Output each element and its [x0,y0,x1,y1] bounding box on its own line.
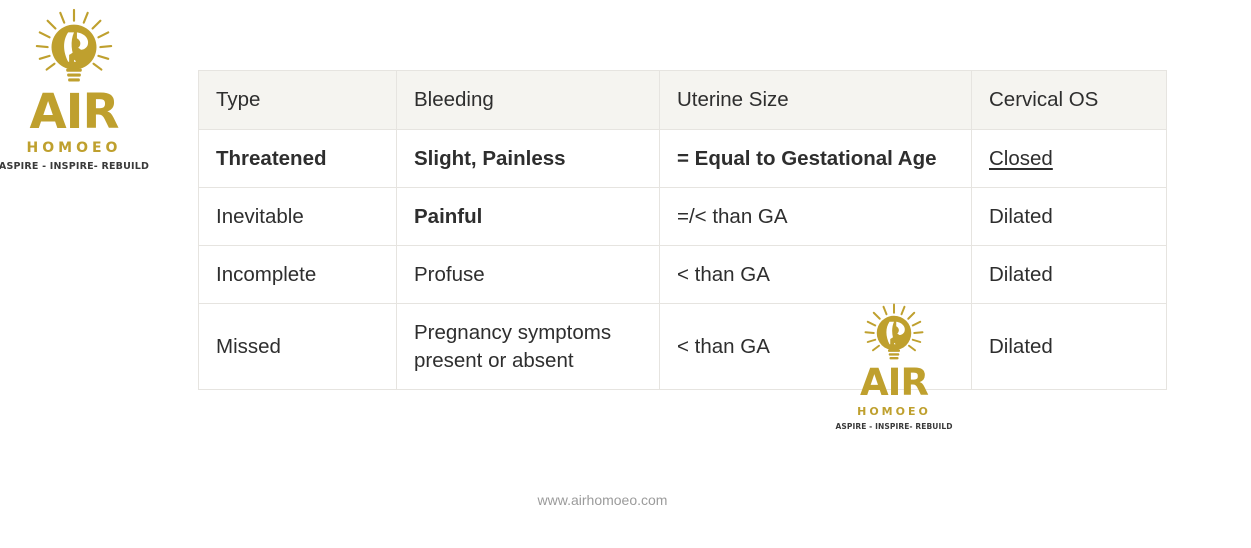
table-header-row: Type Bleeding Uterine Size Cervical OS [199,71,1167,130]
cell-type: Incomplete [199,246,397,304]
cell-cervical-os-text: Closed [989,147,1053,170]
watermark-tagline: ASPIRE - INSPIRE- REBUILD [835,423,952,431]
brand-tagline: ASPIRE - INSPIRE- REBUILD [0,162,149,172]
lightbulb-icon [25,8,123,94]
lightbulb-icon [856,303,932,369]
cell-cervical-os: Dilated [972,246,1167,304]
watermark-subname: HOMOEO [857,406,931,417]
cell-cervical-os: Dilated [972,304,1167,390]
cell-type: Missed [199,304,397,390]
footer-website-url: www.airhomoeo.com [0,492,1205,508]
watermark-logo: AIR HOMOEO ASPIRE - INSPIRE- REBUILD [836,303,952,431]
cell-bleeding: Slight, Painless [397,130,660,188]
table-row: Threatened Slight, Painless = Equal to G… [199,130,1167,188]
cell-uterine-size: = Equal to Gestational Age [660,130,972,188]
comparison-table: Type Bleeding Uterine Size Cervical OS T… [198,70,1167,390]
cell-cervical-os: Closed [972,130,1167,188]
column-header-cervical-os: Cervical OS [972,71,1167,130]
brand-wordmark: AIR [30,88,119,136]
table-row: Incomplete Profuse < than GA Dilated [199,246,1167,304]
column-header-uterine-size: Uterine Size [660,71,972,130]
cell-type: Inevitable [199,188,397,246]
cell-bleeding: Profuse [397,246,660,304]
brand-subname: HOMOEO [27,141,122,155]
column-header-bleeding: Bleeding [397,71,660,130]
table-row: Inevitable Painful =/< than GA Dilated [199,188,1167,246]
watermark-wordmark: AIR [860,364,928,401]
cell-bleeding: Painful [397,188,660,246]
brand-logo: AIR HOMOEO ASPIRE - INSPIRE- REBUILD [8,8,140,172]
column-header-type: Type [199,71,397,130]
cell-uterine-size: =/< than GA [660,188,972,246]
cell-type: Threatened [199,130,397,188]
cell-bleeding: Pregnancy symptoms present or absent [397,304,660,390]
cell-cervical-os: Dilated [972,188,1167,246]
cell-uterine-size: < than GA [660,246,972,304]
table-row: Missed Pregnancy symptoms present or abs… [199,304,1167,390]
